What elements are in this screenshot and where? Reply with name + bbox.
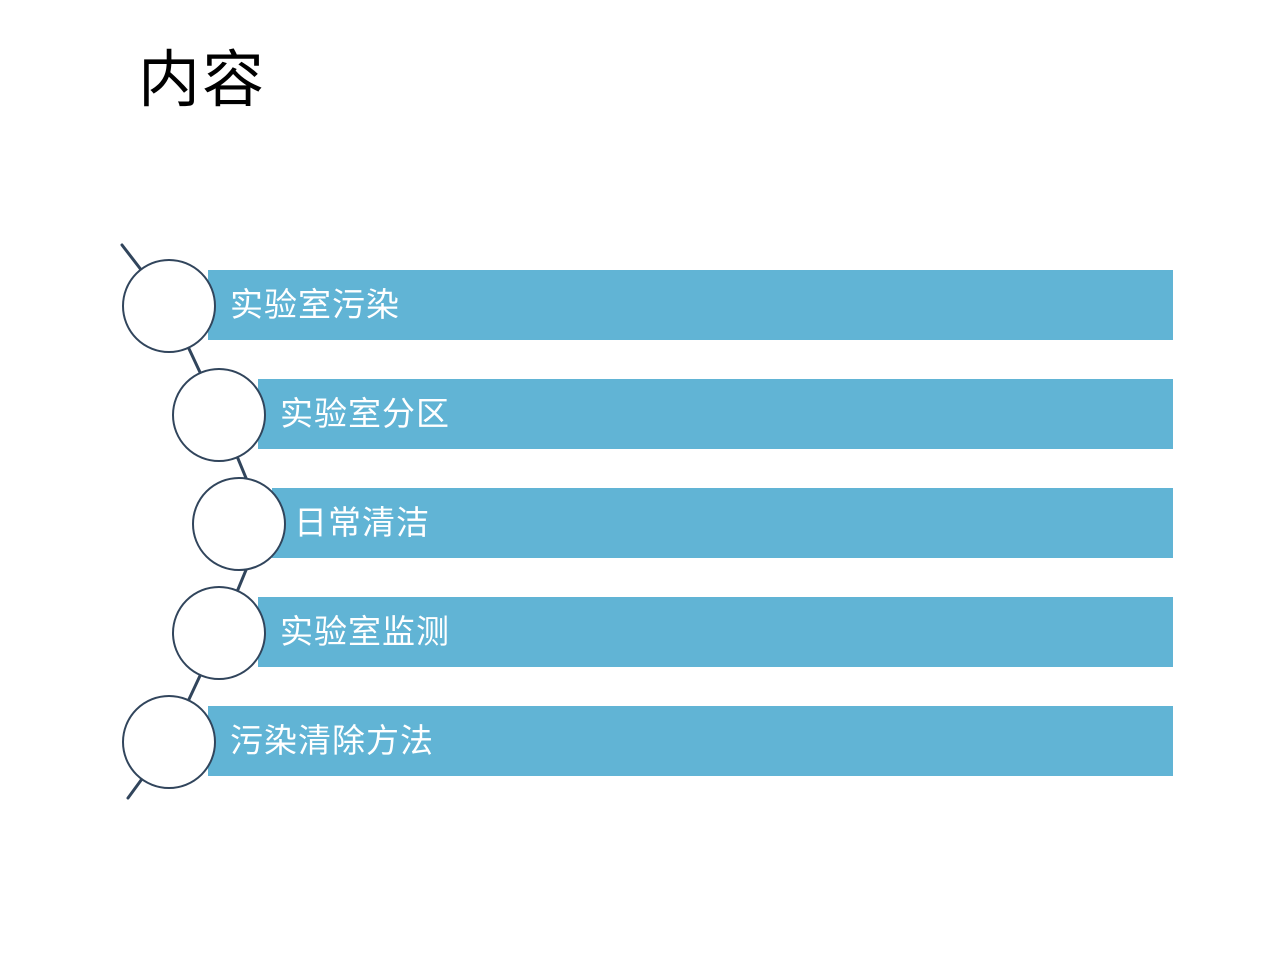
agenda-item-label-4: 实验室监测 xyxy=(258,597,450,667)
agenda-item-label-2: 实验室分区 xyxy=(258,379,450,449)
agenda-bar-3[interactable]: 日常清洁 xyxy=(272,488,1173,558)
agenda-node-circle-1[interactable] xyxy=(122,259,216,353)
agenda-bar-4[interactable]: 实验室监测 xyxy=(258,597,1173,667)
connector-line-icon xyxy=(0,0,1280,960)
slide-canvas: 内容 实验室污染 实验室分区 日常清洁 实验室监测 污染清除方法 xyxy=(0,0,1280,960)
agenda-bar-1[interactable]: 实验室污染 xyxy=(208,270,1173,340)
agenda-chevron-diagram: 实验室污染 实验室分区 日常清洁 实验室监测 污染清除方法 xyxy=(0,0,1280,960)
agenda-node-circle-4[interactable] xyxy=(172,586,266,680)
agenda-item-label-1: 实验室污染 xyxy=(208,270,400,340)
agenda-node-circle-3[interactable] xyxy=(192,477,286,571)
agenda-bar-2[interactable]: 实验室分区 xyxy=(258,379,1173,449)
agenda-node-circle-2[interactable] xyxy=(172,368,266,462)
agenda-item-label-3: 日常清洁 xyxy=(272,488,430,558)
agenda-item-label-5: 污染清除方法 xyxy=(208,706,434,776)
agenda-bar-5[interactable]: 污染清除方法 xyxy=(208,706,1173,776)
agenda-node-circle-5[interactable] xyxy=(122,695,216,789)
